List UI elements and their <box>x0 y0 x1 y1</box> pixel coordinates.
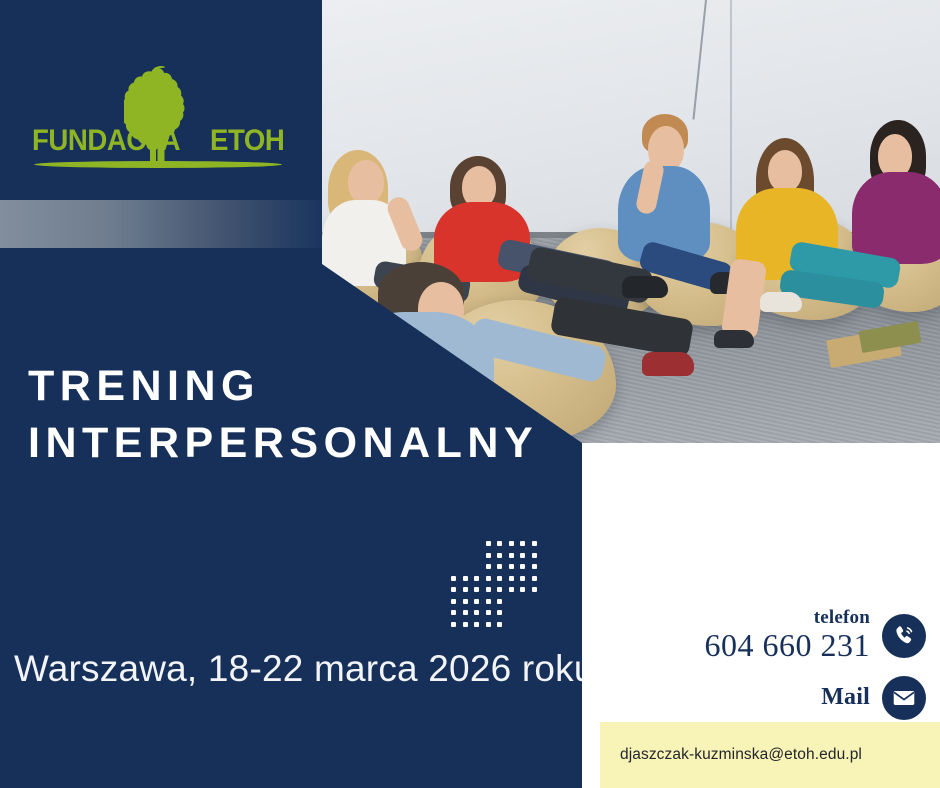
dot <box>460 607 472 619</box>
dot <box>460 596 472 608</box>
dot <box>494 550 506 562</box>
dot-empty <box>448 550 460 562</box>
phone-ring-icon[interactable] <box>882 614 926 658</box>
dot <box>448 596 460 608</box>
dot <box>517 584 529 596</box>
dot <box>506 561 518 573</box>
dot-row <box>448 550 540 562</box>
dot <box>494 596 506 608</box>
logo-word-etoh: ETOH <box>210 126 284 156</box>
logo-word-fundacja: FUNDACJA <box>32 126 180 156</box>
dot <box>494 607 506 619</box>
dot-row <box>448 561 540 573</box>
dot <box>448 573 460 585</box>
torso <box>852 172 940 264</box>
dot <box>460 584 472 596</box>
gradient-accent-band <box>0 200 322 248</box>
title-line-2: INTERPERSONALNY <box>28 415 568 472</box>
dot-empty <box>460 538 472 550</box>
dot-empty <box>506 607 518 619</box>
dot-empty <box>506 596 518 608</box>
dot <box>460 619 472 631</box>
dot <box>483 573 495 585</box>
dot <box>494 538 506 550</box>
title-line-1: TRENING <box>28 358 568 415</box>
dot-grid-step <box>448 538 540 630</box>
dot <box>483 584 495 596</box>
page-title: TRENING INTERPERSONALNY <box>28 358 568 472</box>
dot <box>483 550 495 562</box>
dot-empty <box>460 561 472 573</box>
dot <box>460 573 472 585</box>
dot-empty <box>517 596 529 608</box>
shoe <box>760 292 802 312</box>
dot-empty <box>529 607 541 619</box>
dot <box>494 619 506 631</box>
ground-line-icon <box>34 161 282 168</box>
phone-label: telefon <box>705 608 871 628</box>
head <box>768 150 802 192</box>
event-date-location: Warszawa, 18-22 marca 2026 roku <box>14 648 595 690</box>
phone-number: 604 660 231 <box>705 628 871 663</box>
head <box>348 160 384 204</box>
dot-empty <box>460 550 472 562</box>
dot-empty <box>448 561 460 573</box>
dot <box>471 619 483 631</box>
dot-row <box>448 596 540 608</box>
dot <box>483 607 495 619</box>
dot <box>529 584 541 596</box>
mail-label: Mail <box>821 685 870 710</box>
dot <box>529 538 541 550</box>
dot <box>471 596 483 608</box>
dot <box>506 584 518 596</box>
dot-empty <box>529 619 541 631</box>
dot <box>448 607 460 619</box>
dot-empty <box>517 619 529 631</box>
photo-wall-seam <box>730 0 732 258</box>
email-address: djaszczak-kuzminska@etoh.edu.pl <box>600 746 862 764</box>
dot <box>448 584 460 596</box>
dot-empty <box>448 538 460 550</box>
dot <box>494 584 506 596</box>
poster-canvas: FUNDACJA ETOH TRENING INTERPERSONALNY Wa… <box>0 0 940 788</box>
dot <box>506 550 518 562</box>
dot <box>494 573 506 585</box>
dot <box>506 573 518 585</box>
dot <box>529 550 541 562</box>
dot <box>506 538 518 550</box>
dot-row <box>448 573 540 585</box>
dot <box>529 561 541 573</box>
shoe <box>642 352 694 376</box>
shoe <box>622 276 668 298</box>
contact-row-mail[interactable]: Mail <box>821 676 926 720</box>
dot <box>448 619 460 631</box>
dot <box>471 584 483 596</box>
contact-row-phone[interactable]: telefon 604 660 231 <box>705 608 927 663</box>
dot <box>494 561 506 573</box>
dot-row <box>448 619 540 631</box>
dot <box>529 573 541 585</box>
dot-empty <box>517 607 529 619</box>
fundacja-etoh-logo[interactable]: FUNDACJA ETOH <box>28 62 288 182</box>
shoe <box>714 330 754 348</box>
dot <box>483 596 495 608</box>
dot-row <box>448 607 540 619</box>
mail-text-block: Mail <box>821 685 870 710</box>
dot-empty <box>506 619 518 631</box>
envelope-icon[interactable] <box>882 676 926 720</box>
dot-empty <box>529 596 541 608</box>
dot-row <box>448 538 540 550</box>
email-address-box[interactable]: djaszczak-kuzminska@etoh.edu.pl <box>600 722 940 788</box>
dot-row <box>448 584 540 596</box>
dot <box>483 619 495 631</box>
dot <box>483 538 495 550</box>
dot <box>517 550 529 562</box>
dot-empty <box>471 550 483 562</box>
dot <box>471 573 483 585</box>
dot <box>483 561 495 573</box>
phone-text-block: telefon 604 660 231 <box>705 608 871 663</box>
dot-empty <box>471 538 483 550</box>
dot-empty <box>471 561 483 573</box>
dot <box>517 573 529 585</box>
dot <box>517 538 529 550</box>
dot <box>471 607 483 619</box>
dot <box>517 561 529 573</box>
